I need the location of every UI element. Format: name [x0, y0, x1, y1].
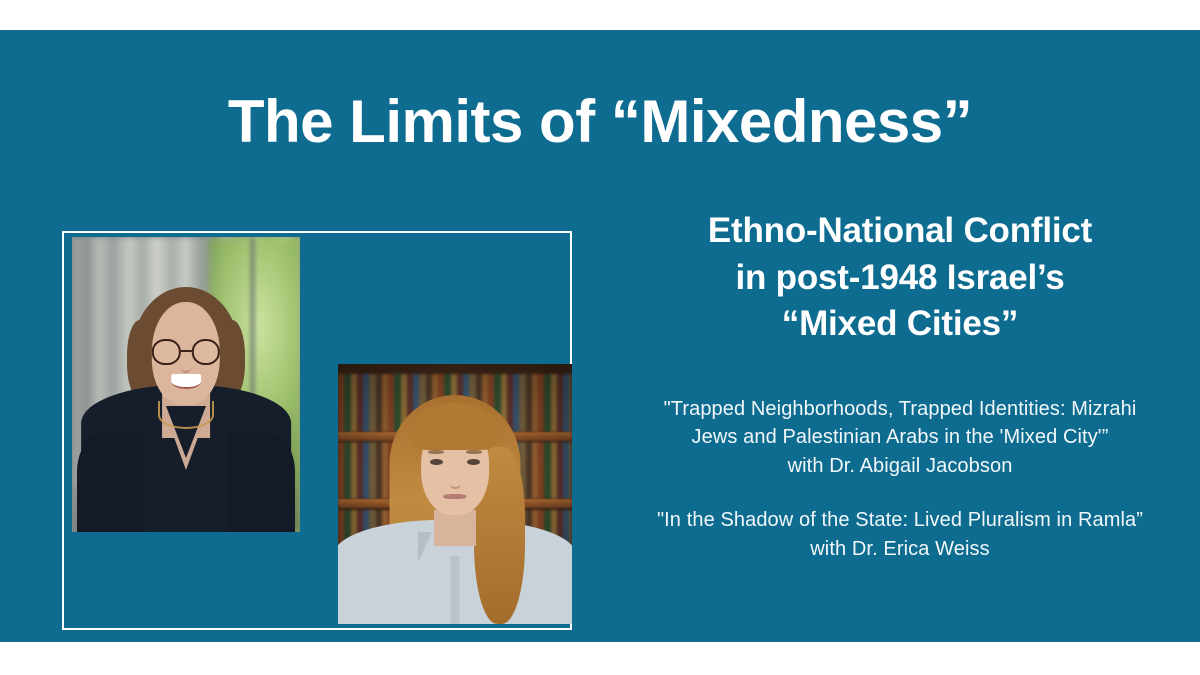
subtitle-line-2: in post-1948 Israel’s — [600, 255, 1200, 302]
portrait-b-right-eyebrow — [466, 450, 482, 454]
photo-collage-frame — [62, 231, 572, 630]
portrait-a-left-lens — [152, 339, 181, 366]
portrait-b-mouth — [443, 494, 466, 499]
portrait-b-collar-left — [418, 532, 432, 562]
portrait-b-nose — [450, 478, 461, 489]
talk-entry-1: "Trapped Neighborhoods, Trapped Identiti… — [600, 395, 1200, 480]
portrait-b-left-eyebrow — [428, 450, 444, 454]
talk-2-speaker: with Dr. Erica Weiss — [600, 535, 1200, 563]
portrait-a-necklace — [158, 401, 214, 429]
promo-banner-canvas: The Limits of “Mixedness” — [0, 0, 1200, 675]
talk-entry-2: "In the Shadow of the State: Lived Plura… — [600, 506, 1200, 563]
portrait-a-smile — [171, 374, 201, 389]
portrait-b-neck — [434, 510, 476, 546]
abigail-jacobson-portrait — [72, 237, 300, 532]
portrait-a-right-shoulder — [227, 432, 295, 532]
subtitle: Ethno-National Conflict in post-1948 Isr… — [600, 208, 1200, 348]
teal-banner: The Limits of “Mixedness” — [0, 30, 1200, 642]
portrait-a-right-lens — [191, 339, 220, 366]
portrait-a-artwork — [72, 237, 300, 532]
talk-1-title-line-2: Jews and Palestinian Arabs in the 'Mixed… — [600, 423, 1200, 451]
talk-1-speaker: with Dr. Abigail Jacobson — [600, 452, 1200, 480]
talk-list: "Trapped Neighborhoods, Trapped Identiti… — [600, 395, 1200, 563]
text-column: Ethno-National Conflict in post-1948 Isr… — [600, 30, 1200, 642]
portrait-b-hair-crown — [413, 403, 497, 450]
portrait-b-shirt-placket — [450, 556, 459, 624]
portrait-a-left-shoulder — [77, 432, 145, 532]
erica-weiss-portrait — [338, 364, 572, 624]
subtitle-line-3: “Mixed Cities” — [600, 301, 1200, 348]
portrait-b-right-eye — [467, 459, 480, 465]
portrait-b-artwork — [338, 364, 572, 624]
talk-2-title: "In the Shadow of the State: Lived Plura… — [600, 506, 1200, 534]
portrait-a-glasses-bridge — [181, 350, 192, 352]
subtitle-line-1: Ethno-National Conflict — [600, 208, 1200, 255]
talk-1-title-line-1: "Trapped Neighborhoods, Trapped Identiti… — [600, 395, 1200, 423]
